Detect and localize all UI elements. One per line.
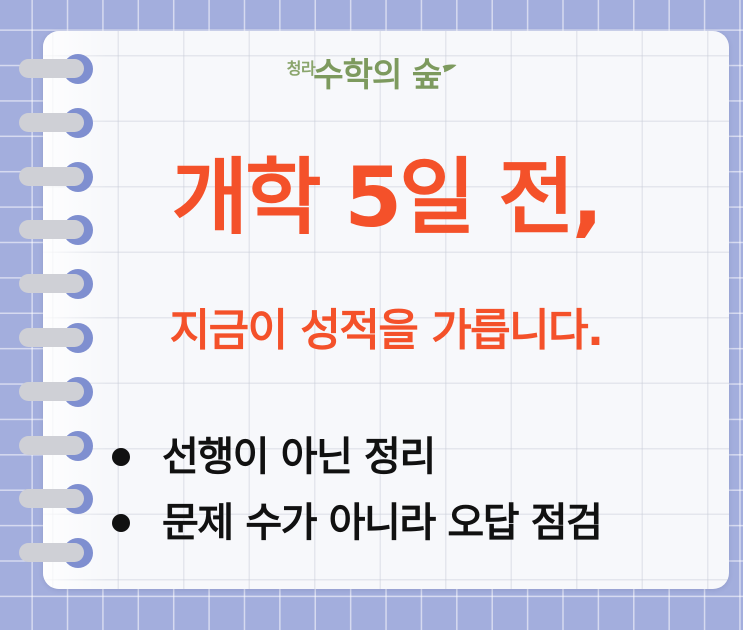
spiral-wire <box>19 543 84 562</box>
spiral-wire <box>19 167 84 186</box>
spiral-wire <box>19 220 84 239</box>
spiral-wire <box>19 59 84 78</box>
list-item: 선행이 아닌 정리 <box>112 424 722 490</box>
logo-prefix-text: 청라 <box>287 59 315 78</box>
list-item: 문제 수가 아니라 오답 점검 <box>112 490 722 556</box>
page-subtitle: 지금이 성적을 가릅니다. <box>43 309 729 353</box>
spiral-binding <box>0 0 120 630</box>
spiral-wire <box>19 113 84 132</box>
spiral-wire <box>19 382 84 401</box>
leaf-icon <box>442 60 457 69</box>
spiral-wire <box>19 489 84 508</box>
logo-name-text: 수학의 숲 <box>313 55 441 94</box>
spiral-wire <box>19 274 84 293</box>
page-title: 개학 5일 전, <box>43 156 729 239</box>
list-item-label: 선행이 아닌 정리 <box>162 437 435 477</box>
list-item-label: 문제 수가 아니라 오답 점검 <box>162 503 602 543</box>
key-points-list: 선행이 아닌 정리 문제 수가 아니라 오답 점검 <box>112 424 722 556</box>
spiral-wire <box>19 328 84 347</box>
spiral-wire <box>19 436 84 455</box>
